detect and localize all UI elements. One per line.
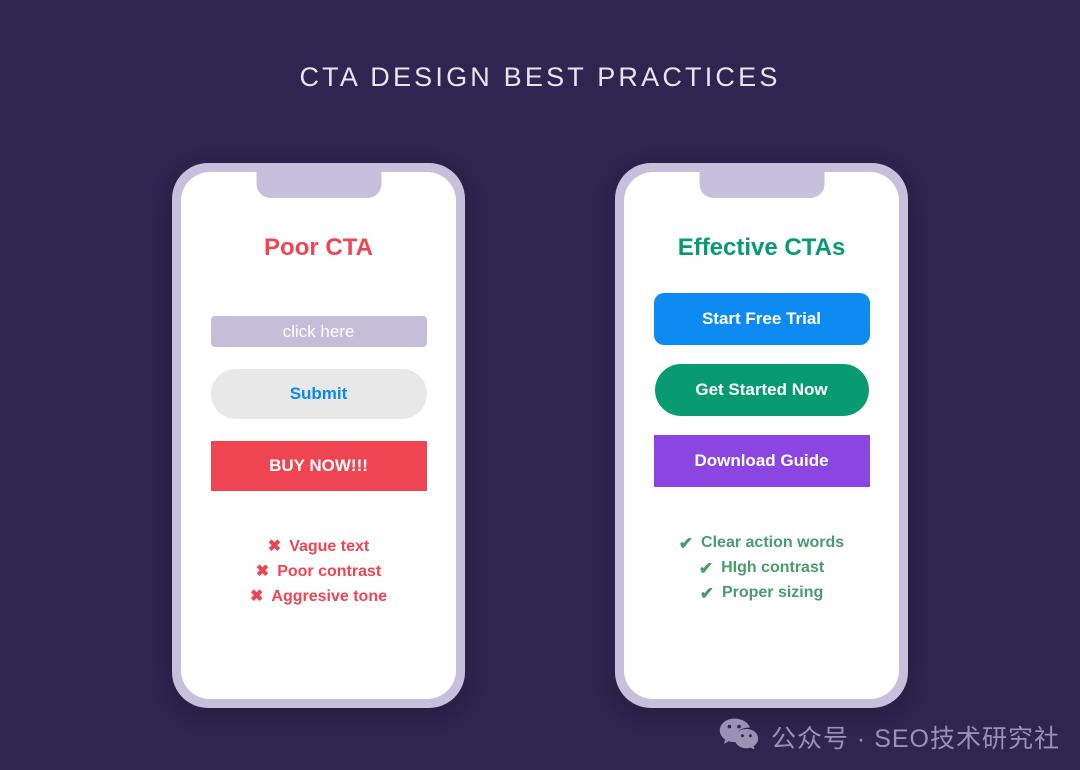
list-item: ✖ Aggresive tone [250,588,387,606]
start-free-trial-button[interactable]: Start Free Trial [654,293,870,345]
list-item-label: HIgh contrast [721,559,824,577]
watermark-text: 公众号 · SEO技术研究社 [771,719,1060,755]
cta-stack-effective: Start Free Trial Get Started Now Downloa… [624,293,899,487]
check-icon: ✔ [679,535,693,552]
click-here-button[interactable]: click here [211,316,427,347]
phone-mockup-effective-ctas: Effective CTAs Start Free Trial Get Star… [615,163,908,708]
cta-stack-poor: click here Submit BUY NOW!!! [181,316,456,491]
feature-list-effective: ✔ Clear action words ✔ HIgh contrast ✔ P… [624,534,899,602]
list-item-label: Poor contrast [277,563,381,581]
list-item: ✔ Proper sizing [700,584,824,602]
check-icon: ✔ [700,585,714,602]
cross-icon: ✖ [268,539,281,555]
screen-title-effective-ctas: Effective CTAs [678,234,846,262]
buy-now-button[interactable]: BUY NOW!!! [211,441,427,491]
screen-title-poor-cta: Poor CTA [264,234,373,262]
list-item-label: Vague text [289,538,369,556]
cross-icon: ✖ [256,564,269,580]
download-guide-button[interactable]: Download Guide [654,435,870,487]
watermark: 公众号 · SEO技术研究社 [719,717,1060,756]
phone-screen-effective-ctas: Effective CTAs Start Free Trial Get Star… [624,172,899,699]
list-item-label: Proper sizing [722,584,823,602]
phone-mockup-poor-cta: Poor CTA click here Submit BUY NOW!!! ✖ … [172,163,465,708]
list-item: ✖ Poor contrast [256,563,381,581]
feature-list-poor: ✖ Vague text ✖ Poor contrast ✖ Aggresive… [181,538,456,606]
phone-comparison: Poor CTA click here Submit BUY NOW!!! ✖ … [0,163,1080,708]
cross-icon: ✖ [250,589,263,605]
check-icon: ✔ [699,560,713,577]
wechat-icon [719,717,759,756]
list-item: ✖ Vague text [268,538,369,556]
page-title: CTA DESIGN BEST PRACTICES [0,62,1080,93]
list-item-label: Aggresive tone [271,588,387,606]
list-item: ✔ Clear action words [679,534,844,552]
submit-button[interactable]: Submit [211,369,427,419]
get-started-now-button[interactable]: Get Started Now [655,364,869,416]
list-item-label: Clear action words [701,534,844,552]
phone-screen-poor-cta: Poor CTA click here Submit BUY NOW!!! ✖ … [181,172,456,699]
phone-notch [256,172,381,198]
list-item: ✔ HIgh contrast [699,559,824,577]
phone-notch [699,172,824,198]
